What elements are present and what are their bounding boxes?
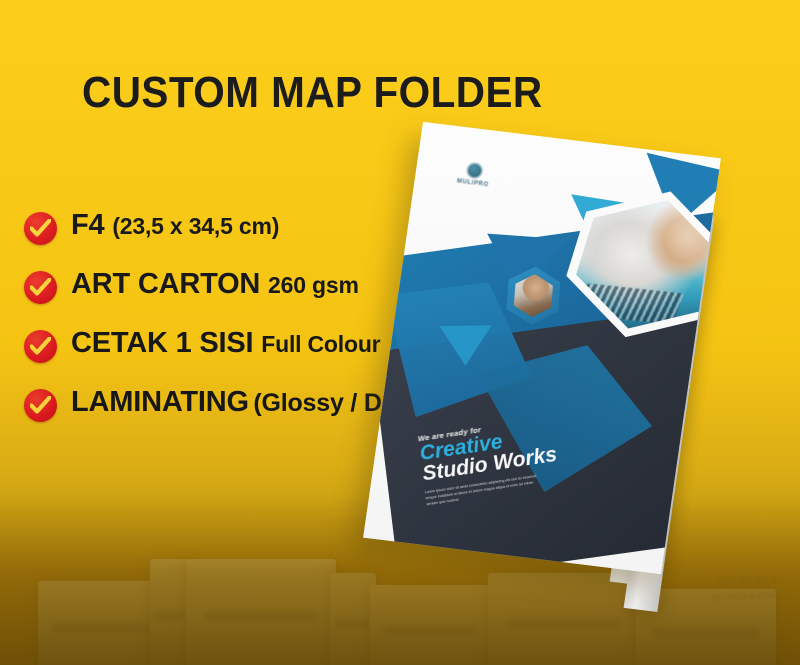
feature-text: F4 (23,5 x 34,5 cm) (71, 210, 279, 242)
feature-text: CETAK 1 SISI Full Colour (71, 328, 380, 360)
folder-cover: MULIPRO We are ready for Creative Studio… (363, 122, 721, 574)
feature-main: LAMINATING (71, 386, 249, 418)
hexagon-photo-image (513, 273, 554, 318)
folder-mockup: MULIPRO We are ready for Creative Studio… (352, 112, 782, 612)
check-circle-icon (24, 330, 57, 363)
page-title: CUSTOM MAP FOLDER (82, 68, 543, 118)
check-circle-icon (24, 271, 57, 304)
check-circle-icon (24, 389, 57, 422)
brand-logo: MULIPRO (457, 160, 492, 188)
check-circle-icon (24, 212, 57, 245)
feature-main: CETAK 1 SISI Full Colour (71, 327, 380, 359)
feature-main: F4 (23,5 x 34,5 cm) (71, 209, 279, 241)
decorative-triangle (439, 326, 491, 367)
promo-poster: surabaya printmaster CUSTOM MAP FOLDER F… (0, 0, 800, 665)
feature-sub: (23,5 x 34,5 cm) (112, 213, 279, 239)
feature-sub: 260 gsm (268, 272, 359, 298)
feature-text: ART CARTON 260 gsm (71, 269, 359, 301)
feature-main: ART CARTON 260 gsm (71, 268, 359, 300)
logo-mark-icon (466, 161, 484, 179)
